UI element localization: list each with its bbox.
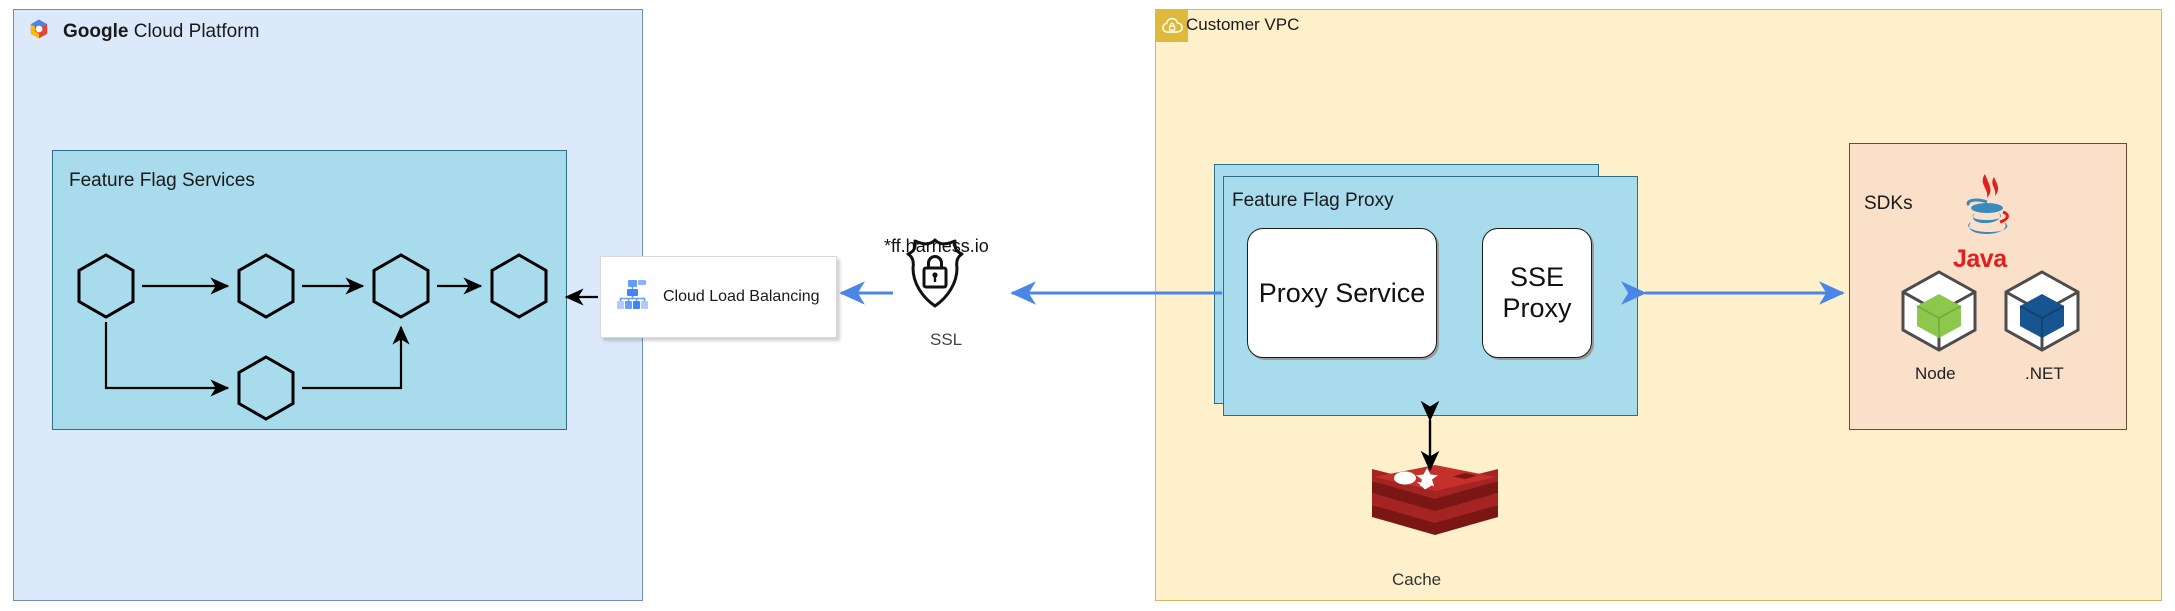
gcp-panel-title: Google Cloud Platform — [63, 21, 259, 43]
service-hexagon-2[interactable] — [236, 253, 296, 319]
google-cloud-logo-icon — [27, 17, 51, 46]
gcp-title-rest: Cloud Platform — [128, 21, 259, 42]
cloud-load-balancing-label: Cloud Load Balancing — [663, 288, 820, 306]
dotnet-label: .NET — [2025, 364, 2064, 384]
cloud-load-balancing-icon — [615, 280, 649, 315]
sse-proxy-line2: Proxy — [1502, 293, 1571, 324]
ssl-shield-lock-icon — [900, 235, 1010, 345]
customer-vpc-title: Customer VPC — [1186, 15, 1299, 35]
cloud-load-balancing-card[interactable]: Cloud Load Balancing — [600, 256, 837, 338]
redis-icon[interactable] — [1370, 465, 1500, 555]
ssl-label: SSL — [930, 330, 962, 350]
gcp-title-bold: Google — [63, 21, 128, 42]
cache-label: Cache — [1392, 570, 1441, 590]
service-hexagon-3[interactable] — [371, 253, 431, 319]
architecture-diagram-canvas: Google Cloud Platform Feature Flag Servi… — [0, 0, 2175, 611]
node-label: Node — [1915, 364, 1956, 384]
service-hexagon-1[interactable] — [76, 253, 136, 319]
feature-flag-services-title: Feature Flag Services — [69, 170, 255, 192]
feature-flag-proxy-title: Feature Flag Proxy — [1232, 190, 1394, 212]
service-hexagon-4[interactable] — [489, 253, 549, 319]
sse-proxy-box[interactable]: SSE Proxy — [1482, 228, 1592, 358]
sse-proxy-line1: SSE — [1502, 262, 1571, 293]
gcp-panel-header: Google Cloud Platform — [27, 17, 259, 46]
java-logo-icon — [1945, 168, 2029, 252]
proxy-service-box[interactable]: Proxy Service — [1247, 228, 1437, 358]
service-hexagon-5[interactable] — [236, 355, 296, 421]
dotnet-cube-icon[interactable] — [2000, 268, 2084, 352]
sdks-title: SDKs — [1864, 193, 1913, 215]
cloud-lock-icon — [1156, 10, 1188, 42]
node-cube-icon[interactable] — [1897, 268, 1981, 352]
